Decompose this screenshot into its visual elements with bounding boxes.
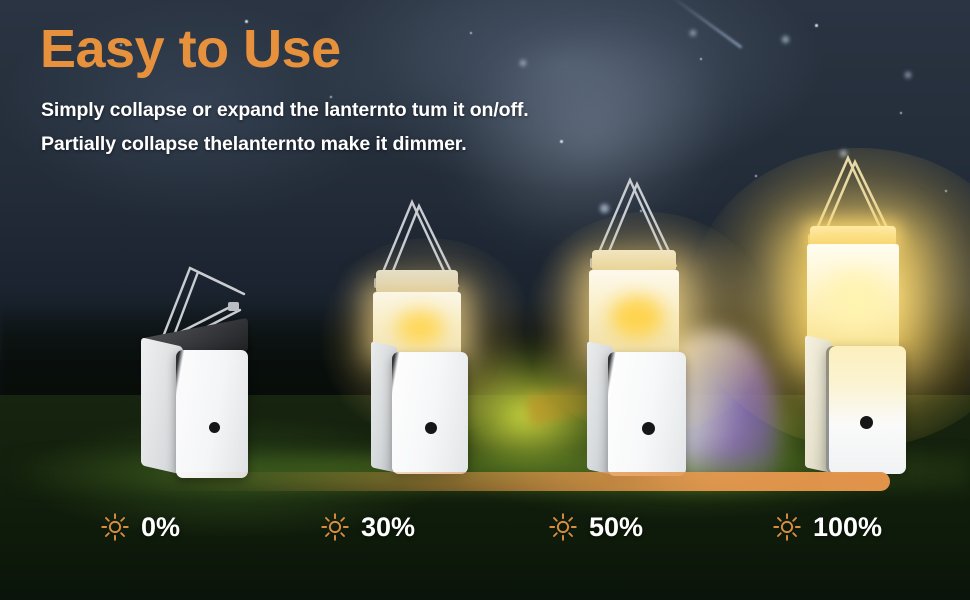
lantern-light-core bbox=[610, 296, 664, 338]
product-banner: Easy to Use Simply collapse or expand th… bbox=[0, 0, 970, 600]
legend-label: 0% bbox=[141, 514, 180, 541]
star bbox=[470, 32, 472, 34]
legend-label: 50% bbox=[589, 514, 643, 541]
star bbox=[330, 96, 332, 98]
power-button[interactable] bbox=[642, 422, 655, 435]
lantern-body-front bbox=[826, 346, 906, 474]
lantern-30-percent bbox=[350, 192, 510, 480]
lantern-top-cap bbox=[810, 226, 896, 246]
star bbox=[560, 140, 563, 143]
sun-icon bbox=[548, 512, 578, 542]
power-button[interactable] bbox=[209, 422, 220, 433]
lantern-100-percent bbox=[786, 152, 952, 480]
legend-item-2: 50% bbox=[548, 512, 643, 542]
star bbox=[782, 36, 789, 43]
lantern-light-core bbox=[824, 272, 888, 326]
subtitle-line-1: Simply collapse or expand the lanternto … bbox=[41, 99, 529, 122]
lantern-top-cap bbox=[376, 270, 458, 294]
star bbox=[520, 60, 526, 66]
lantern-50-percent bbox=[568, 172, 728, 480]
power-button[interactable] bbox=[860, 416, 873, 429]
star bbox=[700, 58, 702, 60]
star bbox=[755, 175, 757, 177]
sun-icon bbox=[320, 512, 350, 542]
star bbox=[900, 112, 902, 114]
sun-icon bbox=[100, 512, 130, 542]
page-title: Easy to Use bbox=[40, 22, 341, 76]
lantern-top-cap bbox=[592, 250, 676, 272]
lantern-body-front bbox=[392, 352, 468, 474]
lantern-light-core bbox=[396, 310, 444, 346]
subtitle-line-2: Partially collapse thelanternto make it … bbox=[41, 133, 467, 156]
legend-item-0: 0% bbox=[100, 512, 180, 542]
power-button[interactable] bbox=[425, 422, 437, 434]
brightness-gradient-bar[interactable] bbox=[150, 472, 890, 491]
lantern-body-front bbox=[176, 350, 248, 478]
legend-item-1: 30% bbox=[320, 512, 415, 542]
lantern-0-percent bbox=[128, 250, 278, 480]
star bbox=[690, 30, 696, 36]
star bbox=[815, 24, 818, 27]
legend-item-3: 100% bbox=[772, 512, 882, 542]
star bbox=[905, 72, 911, 78]
sun-icon bbox=[772, 512, 802, 542]
lantern-body-front bbox=[608, 352, 686, 476]
legend-label: 30% bbox=[361, 514, 415, 541]
legend-label: 100% bbox=[813, 514, 882, 541]
